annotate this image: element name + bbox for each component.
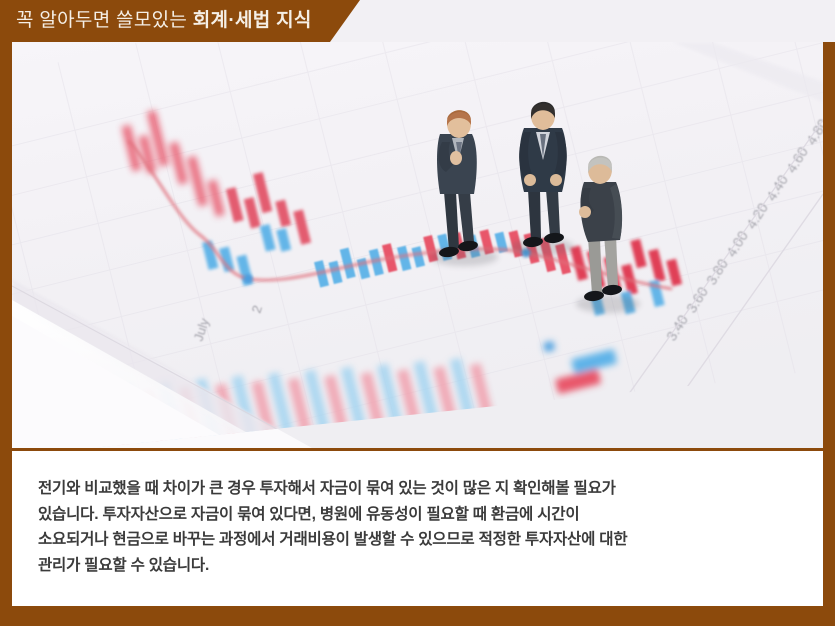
photo-divider — [12, 448, 823, 451]
body-paragraph: 전기와 비교했을 때 차이가 큰 경우 투자해서 자금이 묶여 있는 것이 많은… — [38, 476, 803, 578]
hero-photo: 3.40 3.60 3.80 4.00 4.20 4.40 4.60 4.80 … — [12, 42, 823, 448]
page-title-light: 꼭 알아두면 쓸모있는 — [16, 10, 187, 31]
body-panel: 전기와 비교했을 때 차이가 큰 경우 투자해서 자금이 묶여 있는 것이 많은… — [12, 451, 823, 606]
stock-chart-photo-illustration: 3.40 3.60 3.80 4.00 4.20 4.40 4.60 4.80 … — [12, 42, 823, 448]
page-title-bold: 회계·세법 지식 — [193, 10, 312, 31]
page-title: 꼭 알아두면 쓸모있는 회계·세법 지식 — [16, 7, 312, 35]
header-banner: 꼭 알아두면 쓸모있는 회계·세법 지식 — [0, 0, 835, 42]
slide-card: 꼭 알아두면 쓸모있는 회계·세법 지식 — [0, 0, 835, 626]
header-right-fill — [320, 0, 835, 42]
